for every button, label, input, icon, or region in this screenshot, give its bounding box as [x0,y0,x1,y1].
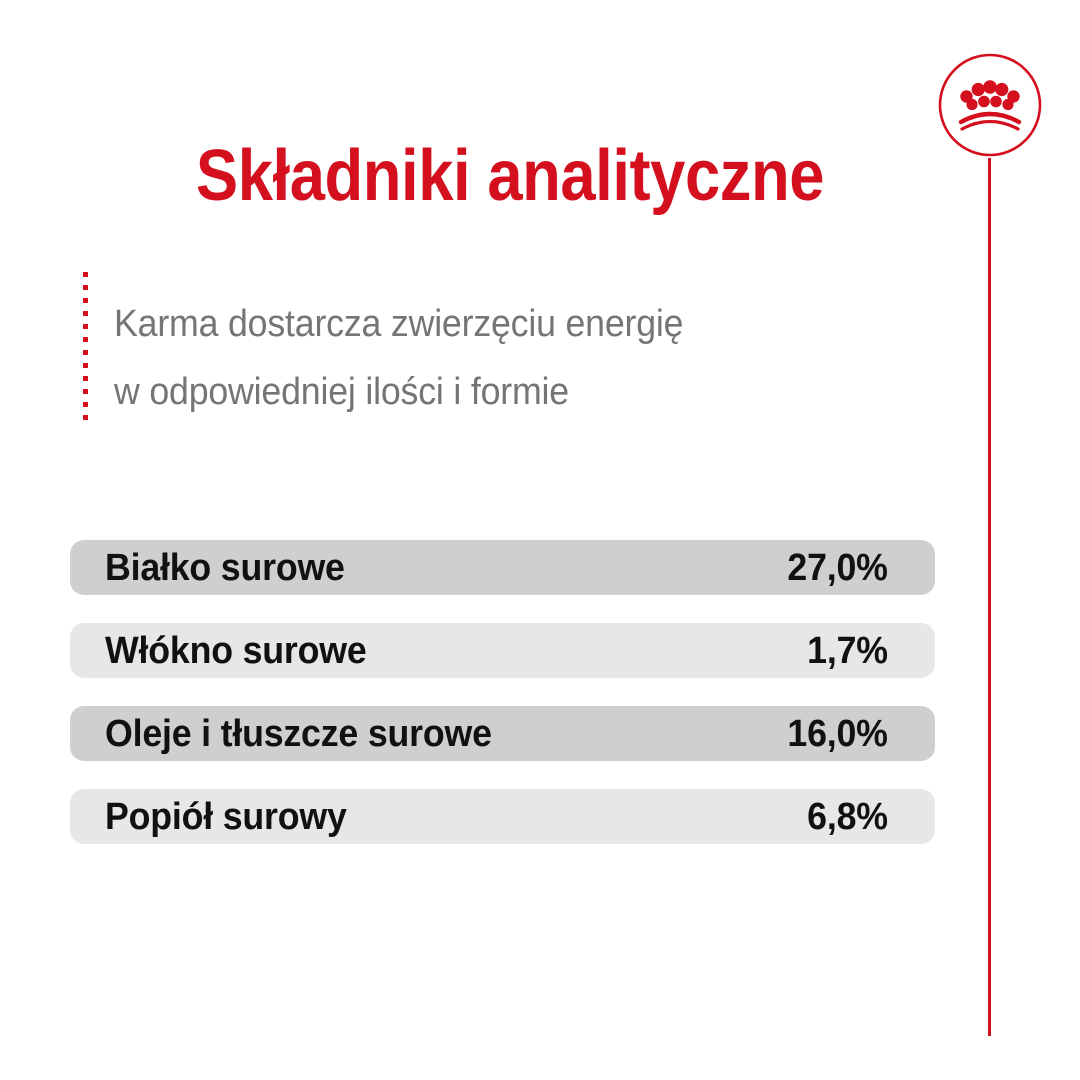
constituent-label: Białko surowe [105,548,345,588]
page-title: Składniki analityczne [61,138,959,214]
intro-line-2: w odpowiedniej ilości i formie [114,358,772,426]
constituent-label: Włókno surowe [105,631,367,671]
constituent-label: Oleje i tłuszcze surowe [105,714,492,754]
brand-vertical-rule [988,158,991,1036]
table-row: Włókno surowe 1,7% [70,623,935,678]
analytical-constituents-card: Składniki analityczne Karma dostarcza zw… [0,0,1080,1080]
dotted-rule-icon [83,272,88,424]
constituent-value: 16,0% [788,714,888,754]
analytical-constituents-list: Białko surowe 27,0% Włókno surowe 1,7% O… [70,540,935,844]
crown-dots [960,80,1019,110]
table-row: Białko surowe 27,0% [70,540,935,595]
table-row: Popiół surowy 6,8% [70,789,935,844]
constituent-value: 6,8% [807,797,888,837]
intro-line-1: Karma dostarcza zwierzęciu energię [114,290,772,358]
constituent-value: 27,0% [788,548,888,588]
constituent-label: Popiół surowy [105,797,347,837]
crown-base-arcs [961,114,1019,129]
constituent-value: 1,7% [807,631,888,671]
intro-text: Karma dostarcza zwierzęciu energię w odp… [114,290,772,426]
table-row: Oleje i tłuszcze surowe 16,0% [70,706,935,761]
